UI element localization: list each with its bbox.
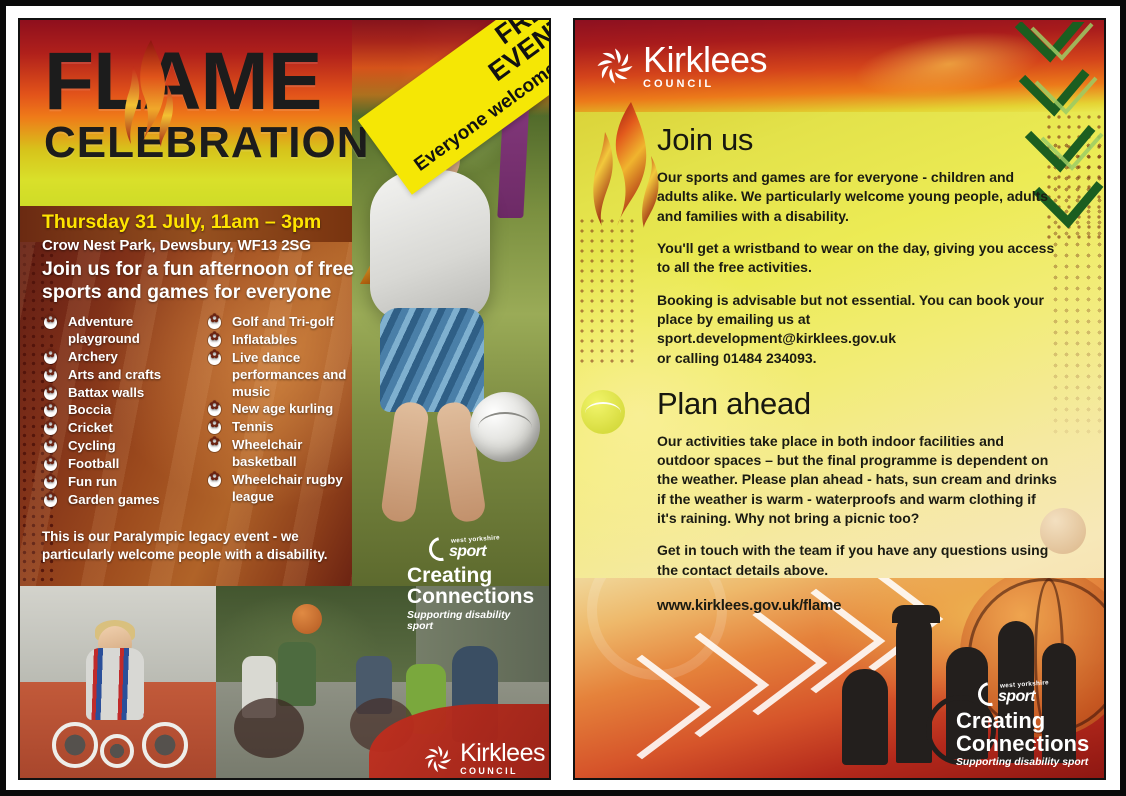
event-address: Crow Nest Park, Dewsbury, WF13 2SG xyxy=(42,237,352,254)
activity-label: Golf and Tri-golf xyxy=(232,314,334,329)
list-item: Wheelchair basketball xyxy=(206,437,356,471)
boy-leg-left xyxy=(380,400,430,524)
flower-bullet-icon xyxy=(208,352,221,365)
activity-label: New age kurling xyxy=(232,401,333,416)
kirklees-name: Kirklees xyxy=(643,42,767,78)
list-item: Tennis xyxy=(206,419,356,436)
flyer-page-front: CROW xyxy=(18,18,551,780)
flower-bullet-icon xyxy=(44,494,57,507)
activity-label: Boccia xyxy=(68,402,111,417)
creating-connections-logo-front: west yorkshire sport Creating Connection… xyxy=(407,536,539,632)
cc-creating: Creating xyxy=(407,565,539,586)
paralympic-legacy-note: This is our Paralympic legacy event - we… xyxy=(42,528,362,564)
trike-wheel-left xyxy=(52,722,98,768)
list-item: Wheelchair rugby league xyxy=(206,472,356,506)
trike-rider-shirt xyxy=(86,648,144,720)
basketball-icon xyxy=(292,604,322,634)
west-yorkshire-sport-logo: west yorkshire sport xyxy=(435,536,521,562)
paragraph-plan-2: Get in touch with the team if you have a… xyxy=(657,541,1057,580)
kirklees-wordmark: Kirklees COUNCIL xyxy=(460,741,545,776)
list-item: Garden games xyxy=(42,492,192,509)
activity-label: Inflatables xyxy=(232,332,297,347)
flame-logo-icon xyxy=(117,38,181,148)
trike-wheel-right xyxy=(142,722,188,768)
activity-label: Cycling xyxy=(68,438,116,453)
list-item: New age kurling xyxy=(206,401,356,418)
list-item: Fun run xyxy=(42,474,192,491)
flower-bullet-icon xyxy=(44,440,57,453)
back-text-content: Join us Our sports and games are for eve… xyxy=(657,118,1057,630)
photo-boy-on-trike xyxy=(46,630,196,778)
kirklees-wordmark: Kirklees COUNCIL xyxy=(643,42,767,90)
cc-connections: Connections xyxy=(407,586,539,607)
cc-tagline: Supporting disability sport xyxy=(407,610,539,632)
kirklees-logo-back: Kirklees COUNCIL xyxy=(595,42,767,90)
website-url[interactable]: www.kirklees.gov.uk/flame xyxy=(657,596,1057,617)
document-frame: CROW xyxy=(0,0,1126,796)
flower-bullet-icon xyxy=(44,316,57,329)
cc-tagline: Supporting disability sport xyxy=(956,757,1096,768)
activity-label: Battax walls xyxy=(68,385,144,400)
paragraph-join-3: Booking is advisable but not essential. … xyxy=(657,291,1057,368)
tennis-ball-icon xyxy=(581,390,625,434)
paragraph-join-2: You'll get a wristband to wear on the da… xyxy=(657,239,1057,278)
kirklees-council: COUNCIL xyxy=(460,767,545,776)
heading-join-us: Join us xyxy=(657,122,1057,158)
event-date-time: Thursday 31 July, 11am – 3pm xyxy=(42,211,352,234)
wys-sport-text: sport xyxy=(449,543,486,561)
trike-wheel-front xyxy=(100,734,134,768)
list-item: Golf and Tri-golf xyxy=(206,314,356,331)
football-icon xyxy=(470,392,540,462)
flower-bullet-icon xyxy=(44,369,57,382)
list-item: Cricket xyxy=(42,420,192,437)
wheelchair-player-2 xyxy=(278,642,316,706)
activities-column-2: Golf and Tri-golf Inflatables Live dance… xyxy=(206,314,356,510)
activity-label: Wheelchair basketball xyxy=(232,437,302,469)
contact-phone: 01484 234093. xyxy=(723,350,816,366)
list-item: Live dance performances and music xyxy=(206,350,356,401)
activities-lists: Adventure playground Archery Arts and cr… xyxy=(42,314,372,510)
contact-email: sport.development@kirklees.gov.uk xyxy=(657,330,896,346)
cc-creating: Creating xyxy=(956,710,1096,732)
paragraph-join-1: Our sports and games are for everyone - … xyxy=(657,168,1057,226)
list-item: Battax walls xyxy=(42,385,192,402)
list-item: Inflatables xyxy=(206,332,356,349)
paragraph-plan-1: Our activities take place in both indoor… xyxy=(657,432,1057,529)
flower-bullet-icon xyxy=(208,334,221,347)
list-item: Football xyxy=(42,456,192,473)
flower-bullet-icon xyxy=(208,316,221,329)
heading-plan-ahead: Plan ahead xyxy=(657,386,1057,422)
activity-label: Tennis xyxy=(232,419,274,434)
kirklees-name: Kirklees xyxy=(460,741,545,766)
west-yorkshire-sport-logo: west yorkshire sport xyxy=(984,681,1070,707)
document-inner: CROW xyxy=(6,6,1120,790)
flower-bullet-icon xyxy=(208,474,221,487)
kirklees-council: COUNCIL xyxy=(643,79,767,90)
activity-label: Live dance performances and music xyxy=(232,350,346,399)
activity-label: Garden games xyxy=(68,492,160,507)
flyer-page-back: Kirklees COUNCIL xyxy=(573,18,1106,780)
kirklees-swirl-icon xyxy=(595,46,635,86)
activity-label: Football xyxy=(68,456,119,471)
flower-bullet-icon xyxy=(44,458,57,471)
flower-bullet-icon xyxy=(44,351,57,364)
activities-column-1: Adventure playground Archery Arts and cr… xyxy=(42,314,192,510)
flower-bullet-icon xyxy=(44,476,57,489)
flower-bullet-icon xyxy=(208,421,221,434)
flower-bullet-icon xyxy=(208,403,221,416)
activity-label: Fun run xyxy=(68,474,117,489)
list-item: Arts and crafts xyxy=(42,367,192,384)
list-item: Adventure playground xyxy=(42,314,192,348)
wheelchair-frame-1 xyxy=(234,698,304,758)
boy-shorts xyxy=(380,308,484,412)
booking-text: Booking is advisable but not essential. … xyxy=(657,292,1044,327)
activity-label: Cricket xyxy=(68,420,113,435)
cc-connections: Connections xyxy=(956,733,1096,755)
event-strapline: Join us for a fun afternoon of free spor… xyxy=(42,258,358,304)
boy-shirt xyxy=(370,170,490,320)
flower-bullet-icon xyxy=(208,439,221,452)
flower-bullet-icon xyxy=(44,387,57,400)
list-item: Boccia xyxy=(42,402,192,419)
silhouette-standing-adult xyxy=(896,613,932,763)
flower-bullet-icon xyxy=(44,422,57,435)
activity-label: Archery xyxy=(68,349,118,364)
list-item: Archery xyxy=(42,349,192,366)
activity-label: Wheelchair rugby league xyxy=(232,472,343,504)
silhouette-seated-child xyxy=(842,669,888,765)
activity-label: Arts and crafts xyxy=(68,367,161,382)
wys-sport-text: sport xyxy=(998,688,1035,706)
kirklees-logo-front: Kirklees COUNCIL xyxy=(423,741,545,776)
kirklees-swirl-icon xyxy=(423,744,453,774)
activity-label: Adventure playground xyxy=(68,314,140,346)
calling-text: or calling xyxy=(657,350,723,366)
creating-connections-logo-back: west yorkshire sport Creating Connection… xyxy=(956,681,1096,768)
halftone-dots-left xyxy=(577,216,637,366)
flower-bullet-icon xyxy=(44,404,57,417)
list-item: Cycling xyxy=(42,438,192,455)
